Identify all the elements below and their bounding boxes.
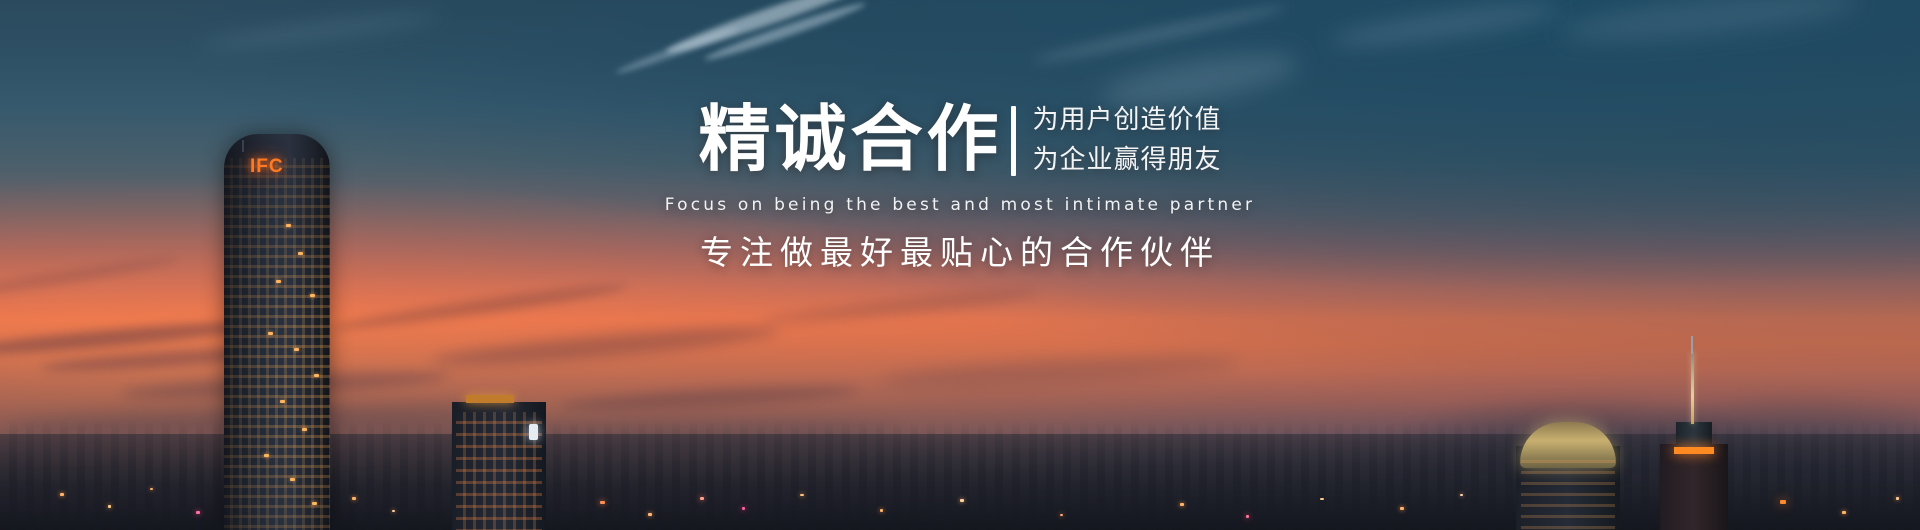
- spire-tower-needle: [1691, 352, 1694, 424]
- subline-group: 为用户创造价值 为企业赢得朋友: [1033, 96, 1222, 182]
- spire-tower-sign: [1674, 447, 1714, 454]
- midrise-building: [452, 402, 546, 530]
- hero-banner: IFC 精诚合作 为用户创造价值 为企业赢得朋友 Focus on being …: [0, 0, 1920, 530]
- dome-tower: [1516, 446, 1620, 530]
- building-windows: [1521, 452, 1615, 530]
- chinese-tagline: 专注做最好最贴心的合作伙伴: [700, 226, 1220, 274]
- page-title: 精诚合作: [698, 96, 1002, 182]
- vertical-divider: [1011, 106, 1016, 176]
- spire-tower-tip: [1691, 336, 1693, 354]
- subline-friends: 为企业赢得朋友: [1033, 140, 1222, 180]
- building-sign-light: [529, 424, 538, 440]
- headline-row: 精诚合作 为用户创造价值 为企业赢得朋友: [698, 96, 1221, 182]
- spire-tower-base: [1660, 444, 1728, 530]
- english-tagline: Focus on being the best and most intimat…: [665, 195, 1256, 215]
- subline-value: 为用户创造价值: [1033, 100, 1222, 140]
- banner-copy: 精诚合作 为用户创造价值 为企业赢得朋友 Focus on being the …: [0, 96, 1920, 274]
